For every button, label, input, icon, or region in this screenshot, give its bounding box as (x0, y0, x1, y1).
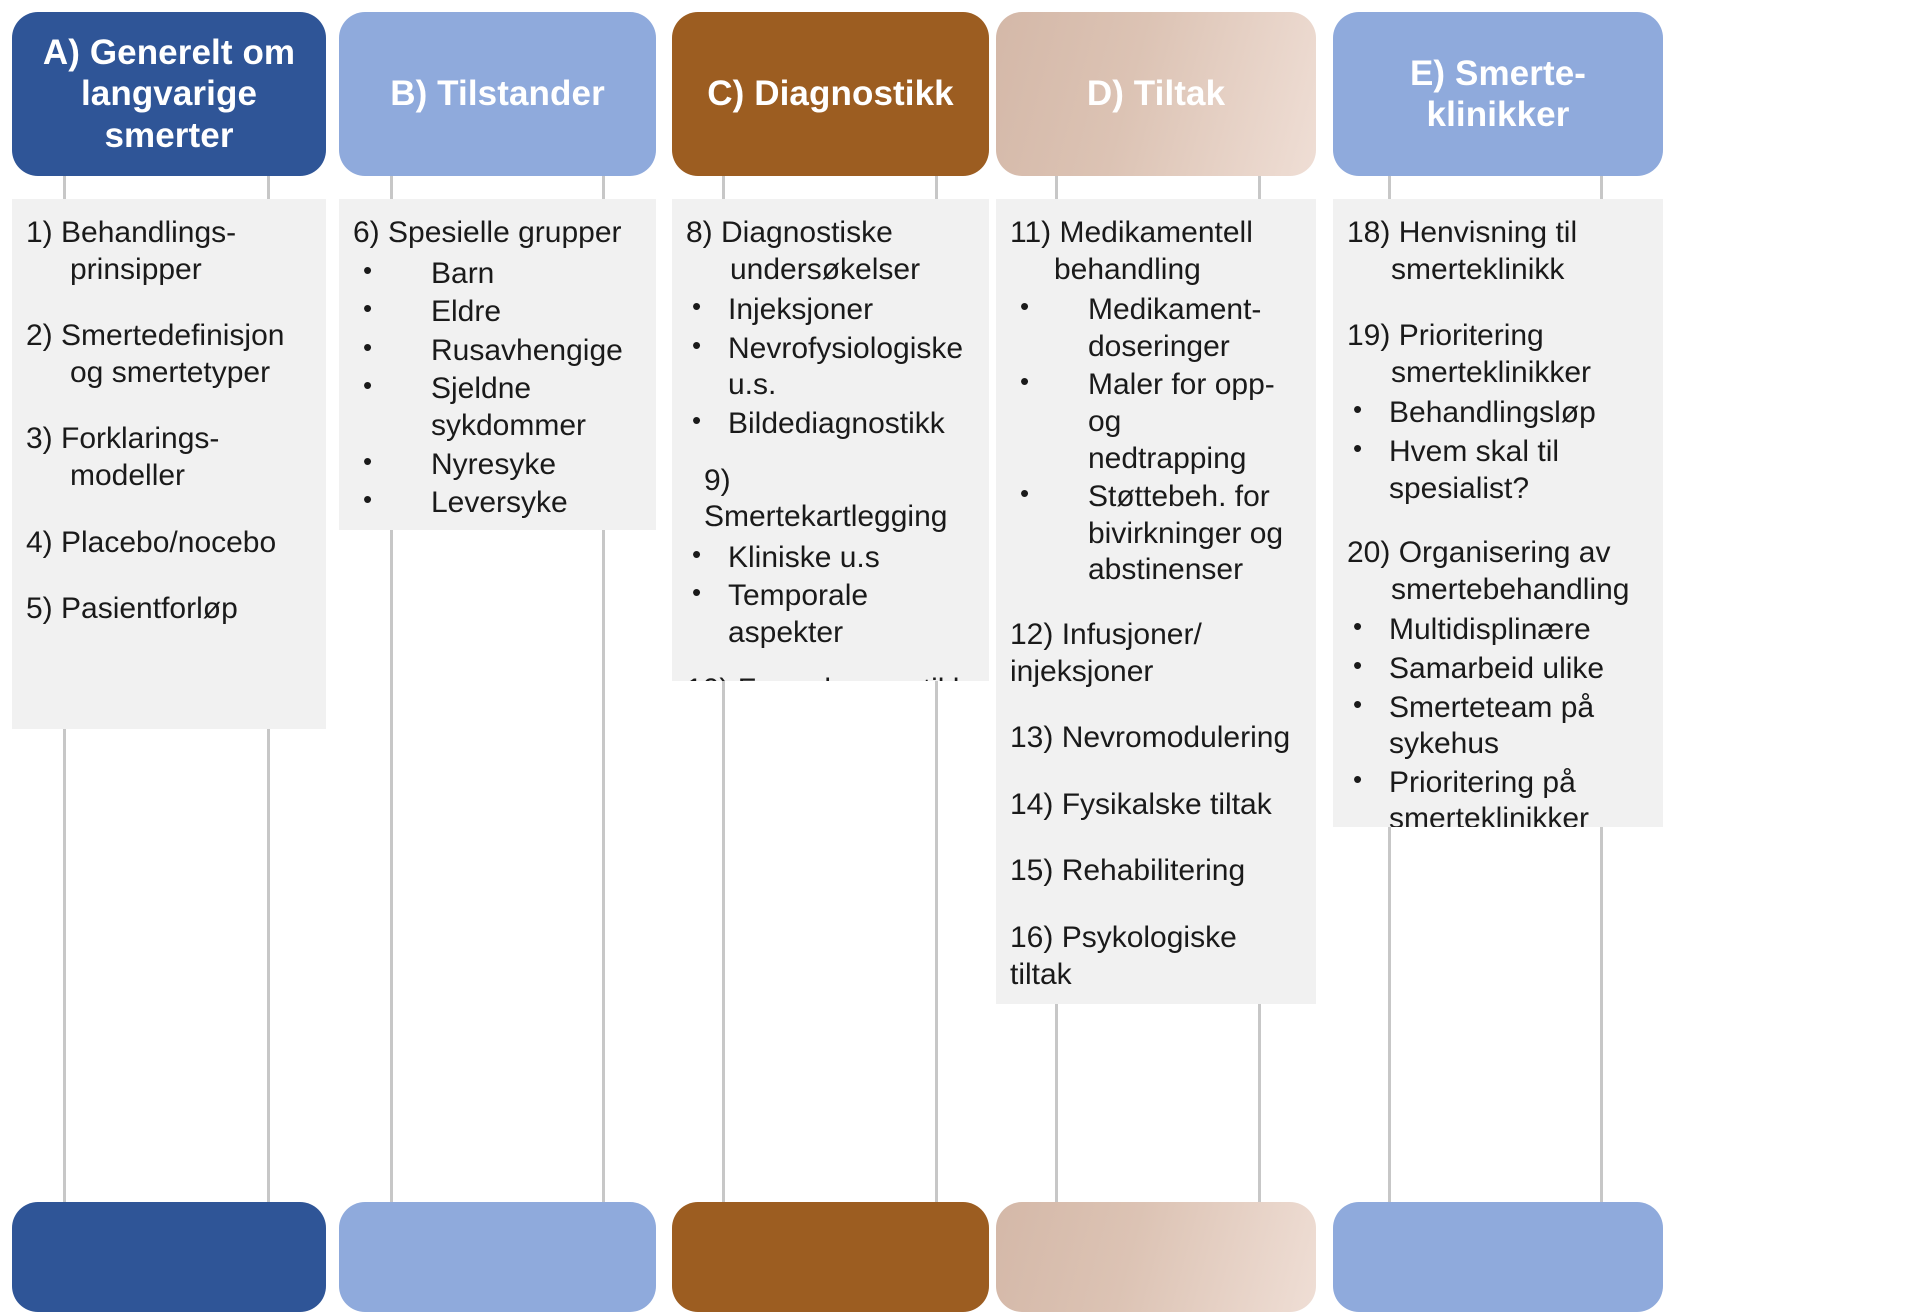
list-item: Multidisplinære (1347, 612, 1653, 649)
column-header-e[interactable]: E) Smerte-klinikker (1333, 12, 1663, 176)
list-item: Injeksjoner (686, 292, 979, 329)
column-panel-e: 18) Henvisning til smerteklinikk 19) Pri… (1333, 199, 1663, 827)
bullet-list-b-6: Barn Eldre Rusavhengige Sjeldne sykdomme… (353, 256, 646, 522)
list-item: Støttebeh. for bivirkninger og abstinens… (1010, 479, 1306, 589)
list-item: Eldre (353, 294, 646, 331)
column-header-d-label: D) Tiltak (1087, 73, 1225, 114)
list-item: Sjeldne sykdommer (353, 371, 646, 444)
column-header-c-label: C) Diagnostikk (707, 73, 953, 114)
column-panel-d: 11) Medikamentell behandling Medikament-… (996, 199, 1316, 1004)
list-item: Temporale aspekter (686, 578, 979, 651)
column-footer-b[interactable] (339, 1202, 656, 1312)
list-item: 12) Infusjoner/ injeksjoner (1010, 617, 1306, 690)
bullet-list-e-19: Behandlingsløp Hvem skal til spesialist? (1347, 395, 1653, 507)
list-item: 2) Smertedefinisjon og smertetyper (26, 318, 316, 391)
column-header-d[interactable]: D) Tiltak (996, 12, 1316, 176)
bullet-list-c-9: Kliniske u.s Temporale aspekter (686, 540, 979, 652)
column-panel-c: 8) Diagnostiske undersøkelser Injeksjone… (672, 199, 989, 681)
list-item: 1) Behandlings- prinsipper (26, 215, 316, 288)
list-item: 14) Fysikalske tiltak (1010, 787, 1306, 824)
list-item: Prioritering på smerteklinikker (1347, 765, 1653, 827)
list-item: Bildediagnostikk (686, 406, 979, 443)
column-panel-a: 1) Behandlings- prinsipper 2) Smertedefi… (12, 199, 326, 729)
list-item: Barn (353, 256, 646, 293)
column-header-c[interactable]: C) Diagnostikk (672, 12, 989, 176)
bullet-list-c-8: Injeksjoner Nevrofysiologiske u.s. Bilde… (686, 292, 979, 442)
list-item: Rusavhengige (353, 333, 646, 370)
list-item: 20) Organisering av smertebehandling (1347, 535, 1653, 608)
list-item: Samarbeid ulike (1347, 651, 1653, 688)
list-item: Leversyke (353, 485, 646, 522)
column-header-a[interactable]: A) Generelt om langvarige smerter (12, 12, 326, 176)
list-item: 3) Forklarings- modeller (26, 421, 316, 494)
list-item: Smerteteam på sykehus (1347, 690, 1653, 763)
list-item: Nevrofysiologiske u.s. (686, 331, 979, 404)
list-item: Medikament- doseringer (1010, 292, 1306, 365)
list-item: 13) Nevromodulering (1010, 720, 1306, 757)
column-footer-e[interactable] (1333, 1202, 1663, 1312)
column-header-b-label: B) Tilstander (390, 73, 605, 114)
list-item: 4) Placebo/nocebo (26, 525, 316, 562)
list-item: 10) Farmakogenetikk (686, 672, 979, 681)
list-item: Kliniske u.s (686, 540, 979, 577)
bullet-list-e-20: Multidisplinære Samarbeid ulike Smertete… (1347, 612, 1653, 827)
list-item: Nyresyke (353, 447, 646, 484)
column-footer-a[interactable] (12, 1202, 326, 1312)
column-header-b[interactable]: B) Tilstander (339, 12, 656, 176)
bullet-list-d-11: Medikament- doseringer Maler for opp- og… (1010, 292, 1306, 589)
column-footer-d[interactable] (996, 1202, 1316, 1312)
list-item: 6) Spesielle grupper (353, 215, 646, 252)
column-header-e-label: E) Smerte-klinikker (1343, 53, 1653, 136)
list-item: 18) Henvisning til smerteklinikk (1347, 215, 1653, 288)
list-item: 19) Prioritering smerteklinikker (1347, 318, 1653, 391)
list-item: 15) Rehabilitering (1010, 853, 1306, 890)
column-footer-c[interactable] (672, 1202, 989, 1312)
column-header-a-label: A) Generelt om langvarige smerter (22, 32, 316, 156)
list-item: 9) Smertekartlegging (704, 463, 979, 536)
column-panel-b: 6) Spesielle grupper Barn Eldre Rusavhen… (339, 199, 656, 530)
list-item: Hvem skal til spesialist? (1347, 434, 1653, 507)
list-item: 11) Medikamentell behandling (1010, 215, 1306, 288)
list-item: 8) Diagnostiske undersøkelser (686, 215, 979, 288)
flowchart-canvas: A) Generelt om langvarige smerter B) Til… (0, 0, 1915, 1277)
list-item: Maler for opp- og nedtrapping (1010, 367, 1306, 477)
list-item: 5) Pasientforløp (26, 591, 316, 628)
list-item: 16) Psykologiske tiltak (1010, 920, 1306, 993)
list-item: Behandlingsløp (1347, 395, 1653, 432)
